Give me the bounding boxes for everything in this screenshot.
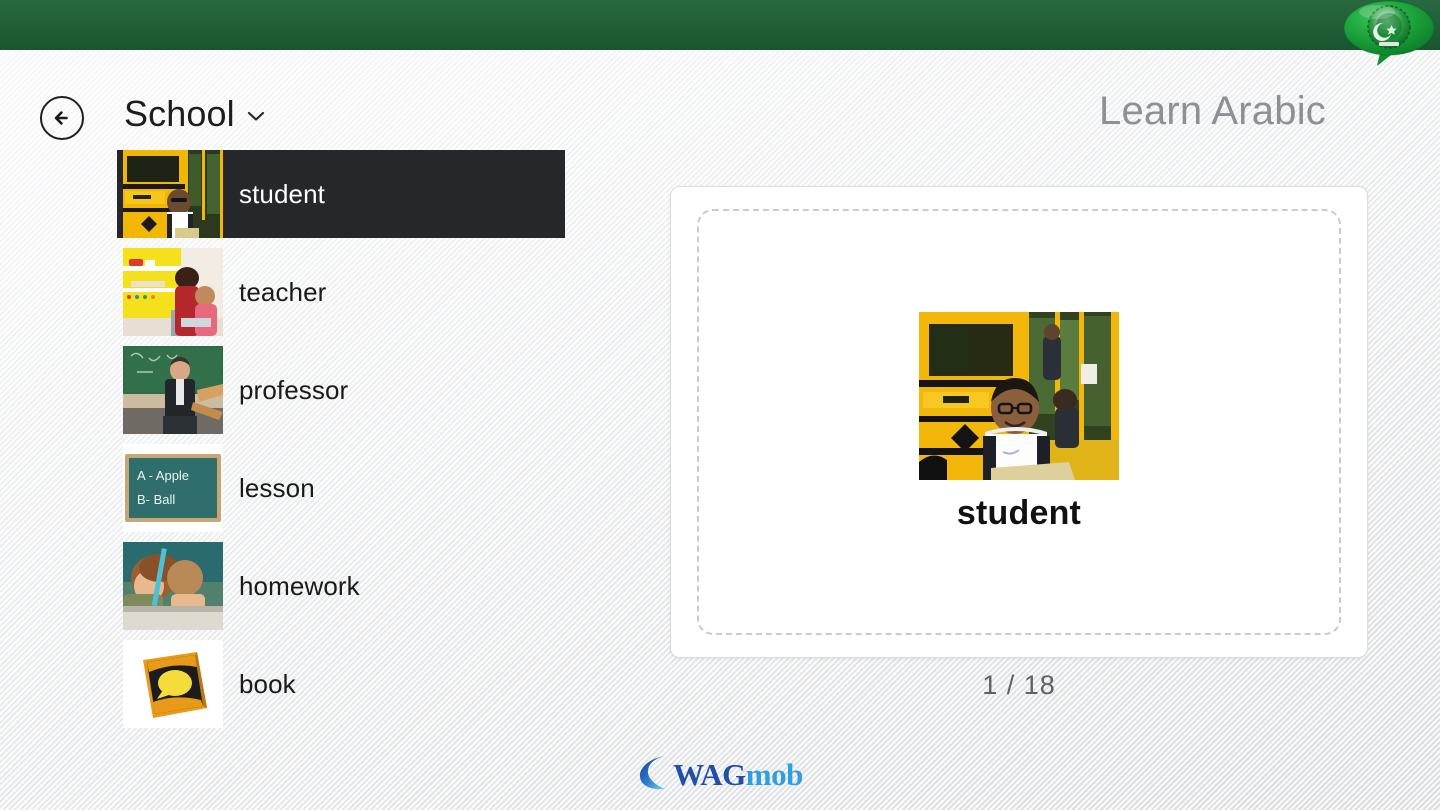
arrow-left-circle-icon [49, 105, 75, 131]
list-item-teacher[interactable]: teacher [117, 248, 567, 336]
lesson-thumb-line1: A - Apple [137, 468, 189, 483]
list-item-label: teacher [239, 277, 326, 308]
list-item-label: professor [239, 375, 348, 406]
list-item-label: homework [239, 571, 360, 602]
list-item-label: book [239, 669, 296, 700]
word-list: student [117, 150, 567, 738]
flashcard-image-student [919, 312, 1119, 480]
flashcard-word: student [957, 494, 1081, 533]
list-item-lesson[interactable]: A - Apple B- Ball lesson [117, 444, 567, 532]
top-accent-bar [0, 0, 1440, 50]
list-item-student[interactable]: student [117, 150, 565, 238]
lesson-thumb-line2: B- Ball [137, 492, 175, 507]
flashcard-content: student [671, 187, 1367, 657]
category-label: School [124, 93, 235, 135]
list-item-label: lesson [239, 473, 315, 504]
list-item-label: student [239, 179, 325, 210]
wagmob-brand: WAGmob [0, 753, 1440, 796]
arab-league-bubble-logo [1341, 0, 1437, 66]
list-item-professor[interactable]: professor [117, 346, 567, 434]
thumbnail-teacher [123, 248, 223, 336]
page-title: Learn Arabic [1099, 89, 1326, 134]
brand-secondary: mob [746, 757, 803, 792]
top-accent-bar-sheen [0, 0, 1440, 50]
thumbnail-lesson: A - Apple B- Ball [123, 444, 223, 532]
thumbnail-student [123, 150, 223, 238]
brand-primary: WAG [673, 757, 746, 792]
category-dropdown[interactable]: School [124, 93, 265, 135]
chevron-down-icon [247, 105, 265, 128]
thumbnail-homework [123, 542, 223, 630]
thumbnail-professor [123, 346, 223, 434]
list-item-book[interactable]: book [117, 640, 567, 728]
thumbnail-book [123, 640, 223, 728]
wagmob-swoosh-icon [637, 753, 671, 796]
list-item-homework[interactable]: homework [117, 542, 567, 630]
app-root: School Learn Arabic [0, 0, 1440, 810]
back-button[interactable] [40, 96, 84, 140]
card-counter: 1 / 18 [670, 670, 1368, 701]
flashcard[interactable]: student [670, 186, 1368, 658]
